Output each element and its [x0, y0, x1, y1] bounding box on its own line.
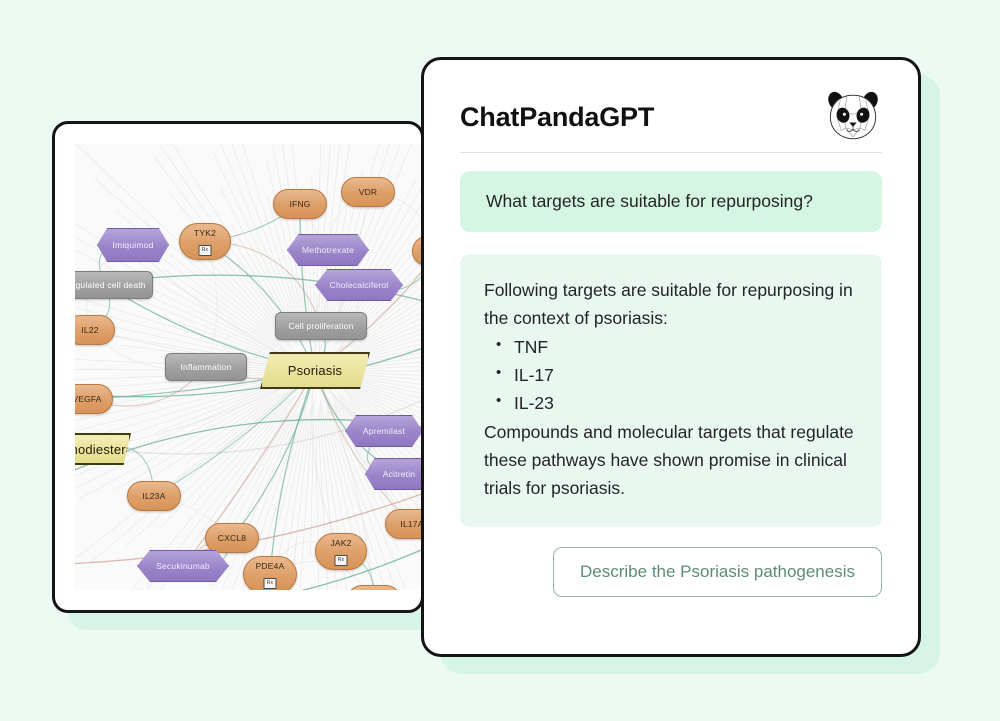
- graph-node-label: Regulated cell death: [75, 280, 146, 290]
- knowledge-graph-panel[interactable]: IFNGVDRImiquimodTYK2RxMethotrexateRARBRe…: [52, 121, 424, 613]
- assistant-message-bubble: Following targets are suitable for repur…: [460, 254, 882, 527]
- graph-node-drug-badge-icon: Rx: [335, 555, 348, 566]
- graph-node-label: VDR: [359, 187, 378, 197]
- graph-node-pde4c[interactable]: PDE4C: [347, 585, 401, 590]
- assistant-list-item: IL-23: [484, 389, 858, 417]
- graph-node-psoriasis[interactable]: Psoriasis: [260, 352, 370, 389]
- graph-node-phosphodiesterase[interactable]: Phosphodiesterase: [75, 433, 131, 465]
- chat-card: ChatPandaGPT: [421, 57, 921, 657]
- graph-node-label: IL22: [81, 325, 98, 335]
- graph-node-label: Secukinumab: [156, 561, 210, 571]
- graph-node-tyk2[interactable]: TYK2Rx: [179, 223, 231, 260]
- graph-node-label: Apremilast: [363, 426, 405, 436]
- graph-node-label: Cell proliferation: [288, 321, 353, 331]
- graph-node-cxcl8[interactable]: CXCL8: [205, 523, 259, 553]
- graph-node-label: IL23A: [142, 491, 165, 501]
- graph-node-label: JAK2: [330, 538, 351, 548]
- graph-node-label: PDE4A: [256, 561, 285, 571]
- graph-node-drug-badge-icon: Rx: [264, 578, 277, 589]
- assistant-outro-text: Compounds and molecular targets that reg…: [484, 418, 858, 503]
- graph-node-imiquimod[interactable]: Imiquimod: [97, 228, 169, 262]
- graph-node-drug-badge-icon: Rx: [199, 245, 212, 256]
- graph-node-il22[interactable]: IL22: [75, 315, 115, 345]
- graph-node-label: VEGFA: [75, 394, 102, 404]
- assistant-list-item: IL-17: [484, 361, 858, 389]
- user-message-bubble: What targets are suitable for repurposin…: [460, 171, 882, 232]
- graph-node-label: Acitretin: [383, 469, 416, 479]
- chat-header: ChatPandaGPT: [460, 86, 882, 148]
- graph-canvas[interactable]: IFNGVDRImiquimodTYK2RxMethotrexateRARBRe…: [75, 144, 421, 590]
- suggestion-button[interactable]: Describe the Psoriasis pathogenesis: [553, 547, 882, 597]
- graph-node-label: CXCL8: [218, 533, 246, 543]
- graph-node-cholecalciferol[interactable]: Cholecalciferol: [315, 269, 403, 301]
- graph-node-label: Cholecalciferol: [330, 280, 389, 290]
- graph-node-label: IL17A: [400, 519, 421, 529]
- graph-node-label: TYK2: [194, 228, 216, 238]
- header-divider: [460, 152, 882, 153]
- graph-node-il17a[interactable]: IL17A: [385, 509, 421, 539]
- graph-node-methotrexate[interactable]: Methotrexate: [287, 234, 369, 266]
- graph-node-cell-proliferation[interactable]: Cell proliferation: [275, 312, 367, 340]
- graph-node-label: IFNG: [289, 199, 310, 209]
- graph-node-il23a[interactable]: IL23A: [127, 481, 181, 511]
- graph-node-inflammation[interactable]: Inflammation: [165, 353, 247, 381]
- graph-node-label: Inflammation: [180, 362, 231, 372]
- graph-node-acitretin[interactable]: Acitretin: [365, 458, 421, 490]
- graph-node-label: Psoriasis: [288, 363, 343, 378]
- graph-node-regulated-cell-death[interactable]: Regulated cell death: [75, 271, 153, 299]
- assistant-target-list: TNFIL-17IL-23: [484, 333, 858, 418]
- graph-node-apremilast[interactable]: Apremilast: [345, 415, 421, 447]
- user-message-text: What targets are suitable for repurposin…: [486, 191, 813, 211]
- suggestion-row: Describe the Psoriasis pathogenesis: [460, 547, 882, 597]
- assistant-list-item: TNF: [484, 333, 858, 361]
- graph-node-pde4a[interactable]: PDE4ARx: [243, 556, 297, 590]
- panda-icon-svg: [824, 88, 882, 146]
- graph-node-jak2[interactable]: JAK2Rx: [315, 533, 367, 570]
- panda-icon: [824, 88, 882, 146]
- graph-node-ifng[interactable]: IFNG: [273, 189, 327, 219]
- graph-node-label: Methotrexate: [302, 245, 354, 255]
- graph-node-vdr[interactable]: VDR: [341, 177, 395, 207]
- graph-node-label: Imiquimod: [112, 240, 153, 250]
- assistant-intro-text: Following targets are suitable for repur…: [484, 276, 858, 333]
- graph-node-secukinumab[interactable]: Secukinumab: [137, 550, 229, 582]
- graph-node-vegfa[interactable]: VEGFA: [75, 384, 113, 414]
- app-title: ChatPandaGPT: [460, 102, 654, 133]
